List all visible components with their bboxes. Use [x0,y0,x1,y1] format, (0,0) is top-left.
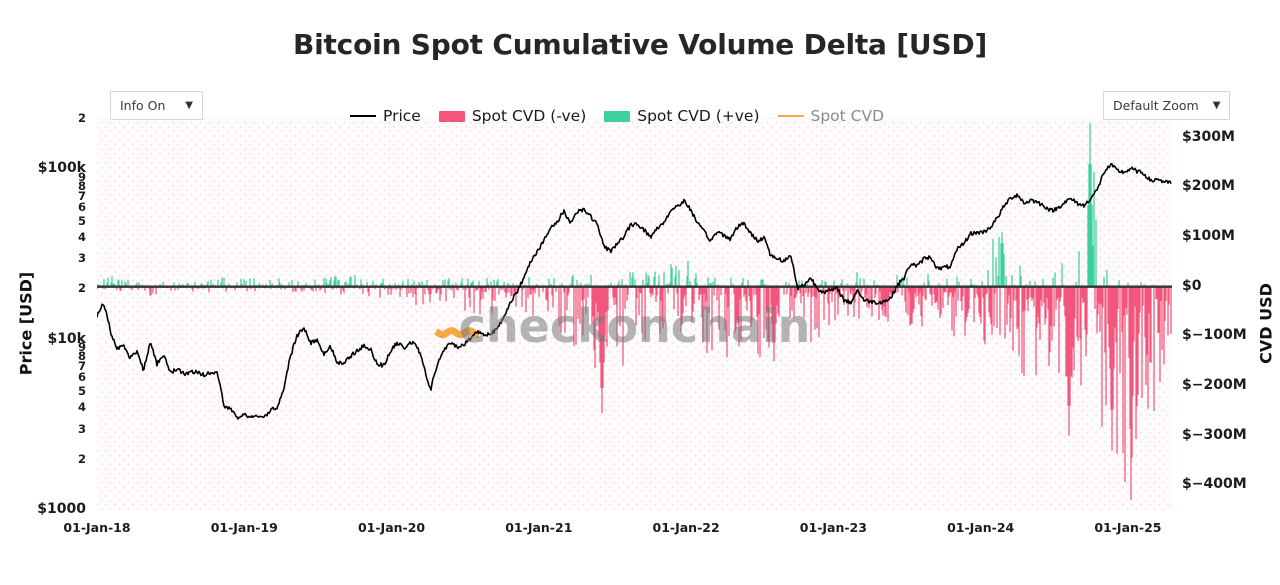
y-axis-right-title: CVD USD [1257,254,1276,394]
legend-swatch-icon [439,111,465,122]
x-axis-tick-label: 01-Jan-21 [505,520,572,535]
legend-label: Spot CVD (+ve) [637,107,759,125]
y-axis-right-tick-label: $0 [1182,278,1201,294]
y-axis-left-tick-label: 5 [78,214,86,228]
x-axis-tick-label: 01-Jan-25 [1094,520,1161,535]
cvd-positive-area [98,123,1170,287]
plot-area[interactable]: checkonchain [97,118,1172,510]
y-axis-left-tick-label: 6 [78,200,86,214]
page-title: Bitcoin Spot Cumulative Volume Delta [US… [0,28,1280,61]
x-axis-tick-label: 01-Jan-20 [358,520,425,535]
chevron-down-icon: ▼ [185,100,193,111]
info-toggle-dropdown[interactable]: Info On ▼ [110,91,203,120]
legend-item-spot-cvd-ve[interactable]: Spot CVD (-ve) [439,107,586,125]
y-axis-left-tick-label: 6 [78,370,86,384]
y-axis-left-tick-label: 4 [78,230,86,244]
y-axis-left-tick-label: 4 [78,400,86,414]
zoom-preset-dropdown[interactable]: Default Zoom ▼ [1103,91,1230,120]
legend-swatch-icon [778,115,804,117]
legend-label: Price [383,107,421,125]
y-axis-right-tick-label: $−200M [1182,377,1247,393]
y-axis-right-tick-label: $300M [1182,129,1235,145]
legend-item-spot-cvd-ve[interactable]: Spot CVD (+ve) [604,107,759,125]
x-axis-tick-label: 01-Jan-24 [947,520,1014,535]
y-axis-left-title: Price [USD] [17,254,36,394]
chevron-down-icon: ▼ [1213,100,1221,111]
legend-label: Spot CVD [811,107,885,125]
legend-item-spot-cvd[interactable]: Spot CVD [778,107,885,125]
y-axis-right-tick-label: $−100M [1182,327,1247,343]
y-axis-right-tick-label: $−400M [1182,476,1247,492]
x-axis-tick-label: 01-Jan-19 [211,520,278,535]
info-dropdown-label: Info On [120,98,165,113]
y-axis-left-tick-label: 3 [78,251,86,265]
x-axis-tick-label: 01-Jan-22 [653,520,720,535]
y-axis-left-tick-label: $1000 [37,501,86,517]
y-axis-left-tick-label: 2 [78,281,86,295]
x-axis-tick-label: 01-Jan-23 [800,520,867,535]
legend-label: Spot CVD (-ve) [472,107,586,125]
zoom-dropdown-label: Default Zoom [1113,98,1199,113]
cvd-negative-area [97,287,1171,500]
chart-canvas [97,118,1172,510]
chart-page: Bitcoin Spot Cumulative Volume Delta [US… [0,0,1280,585]
y-axis-right-tick-label: $100M [1182,228,1235,244]
y-axis-left-tick-label: 2 [78,111,86,125]
legend-swatch-icon [350,115,376,117]
spot-cvd-orange-line [436,331,479,335]
y-axis-left-tick-label: 2 [78,452,86,466]
chart-legend: PriceSpot CVD (-ve)Spot CVD (+ve)Spot CV… [350,107,895,125]
y-axis-left-tick-label: 5 [78,384,86,398]
x-axis-tick-label: 01-Jan-18 [63,520,130,535]
y-axis-left-tick-label: 3 [78,422,86,436]
legend-swatch-icon [604,111,630,122]
legend-item-price[interactable]: Price [350,107,421,125]
y-axis-right-tick-label: $200M [1182,178,1235,194]
y-axis-right-tick-label: $−300M [1182,427,1247,443]
